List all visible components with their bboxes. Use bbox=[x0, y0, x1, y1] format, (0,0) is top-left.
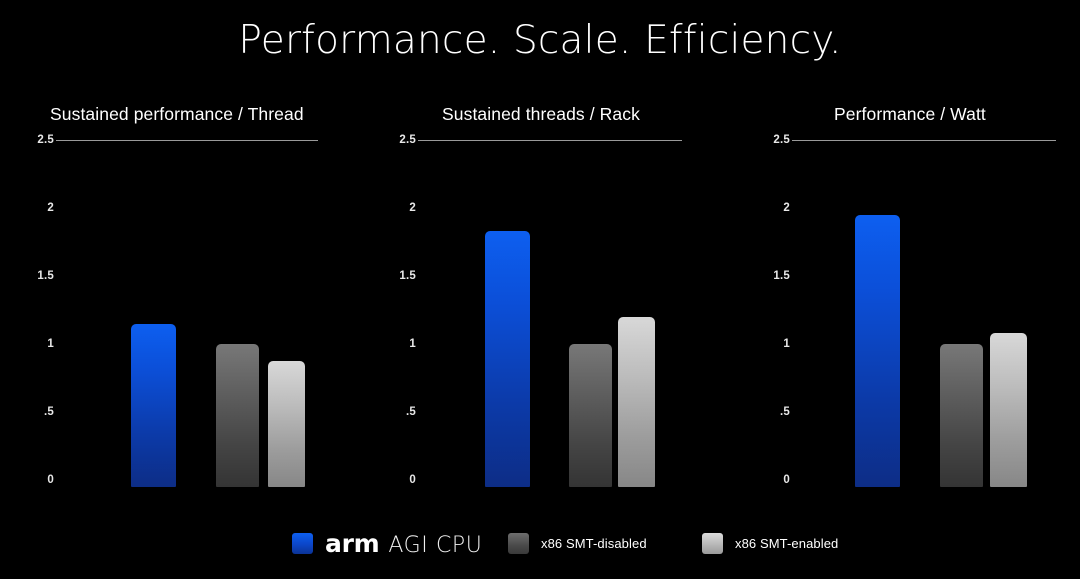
bar-smt-off bbox=[940, 344, 983, 487]
y-axis-tick-label: 0 bbox=[382, 474, 416, 486]
legend-item-x86-smt-enabled: x86 SMT-enabled bbox=[702, 528, 838, 558]
legend: arm AGI CPU x86 SMT-disabled x86 SMT-ena… bbox=[0, 528, 1080, 568]
y-axis-tick-label: 2 bbox=[20, 202, 54, 214]
y-axis-tick-label: .5 bbox=[382, 406, 416, 418]
bar-arm bbox=[855, 215, 900, 487]
plot-area: 2.521.51.50 bbox=[20, 140, 360, 488]
y-axis-tick-label: 2.5 bbox=[756, 134, 790, 146]
axis-baseline bbox=[56, 140, 318, 141]
plot-area: 2.521.51.50 bbox=[756, 140, 1080, 488]
bar-group bbox=[418, 148, 665, 488]
y-axis-tick-label: 0 bbox=[20, 474, 54, 486]
legend-swatch-icon bbox=[702, 533, 723, 554]
chart-panel-sustained-performance-per-thread: Sustained performance / Thread 2.521.51.… bbox=[20, 0, 360, 520]
axis-baseline bbox=[418, 140, 682, 141]
axis-baseline bbox=[792, 140, 1056, 141]
y-axis-tick-label: .5 bbox=[20, 406, 54, 418]
legend-label-text: x86 SMT-disabled bbox=[541, 536, 647, 551]
chart-panel-sustained-threads-per-rack: Sustained threads / Rack 2.521.51.50 bbox=[382, 0, 722, 520]
chart-title: Sustained performance / Thread bbox=[50, 104, 304, 125]
plot-area: 2.521.51.50 bbox=[382, 140, 722, 488]
bar-smt-on bbox=[618, 317, 655, 487]
chart-panel-performance-per-watt: Performance / Watt 2.521.51.50 bbox=[756, 0, 1080, 520]
bar-smt-off bbox=[216, 344, 259, 487]
y-axis-tick-label: 1.5 bbox=[20, 270, 54, 282]
bar-smt-off bbox=[569, 344, 612, 487]
legend-item-x86-smt-disabled: x86 SMT-disabled bbox=[508, 528, 647, 558]
arm-logo-wordmark: arm bbox=[325, 529, 379, 558]
bar-arm bbox=[131, 324, 176, 487]
y-axis-tick-label: 1 bbox=[382, 338, 416, 350]
chart-title: Performance / Watt bbox=[834, 104, 986, 125]
y-axis-tick-label: 2 bbox=[756, 202, 790, 214]
legend-label: arm AGI CPU bbox=[325, 529, 482, 558]
y-axis-tick-label: 0 bbox=[756, 474, 790, 486]
bar-smt-on bbox=[268, 361, 305, 487]
y-axis-tick-label: .5 bbox=[756, 406, 790, 418]
bar-group bbox=[792, 148, 1037, 488]
bar-group bbox=[56, 148, 315, 488]
slide-root: Performance. Scale. Efficiency. Sustaine… bbox=[0, 0, 1080, 579]
y-axis-tick-label: 1.5 bbox=[382, 270, 416, 282]
chart-title: Sustained threads / Rack bbox=[442, 104, 640, 125]
bar-arm bbox=[485, 231, 530, 487]
y-axis-tick-label: 2.5 bbox=[382, 134, 416, 146]
legend-swatch-icon bbox=[508, 533, 529, 554]
legend-item-arm-agi-cpu: arm AGI CPU bbox=[292, 528, 482, 558]
legend-label-text: x86 SMT-enabled bbox=[735, 536, 838, 551]
y-axis-tick-label: 2.5 bbox=[20, 134, 54, 146]
y-axis-tick-label: 1 bbox=[20, 338, 54, 350]
y-axis-tick-label: 2 bbox=[382, 202, 416, 214]
bar-smt-on bbox=[990, 333, 1027, 487]
y-axis-tick-label: 1.5 bbox=[756, 270, 790, 282]
legend-swatch-icon bbox=[292, 533, 313, 554]
y-axis-tick-label: 1 bbox=[756, 338, 790, 350]
legend-label-text: AGI CPU bbox=[388, 533, 482, 558]
